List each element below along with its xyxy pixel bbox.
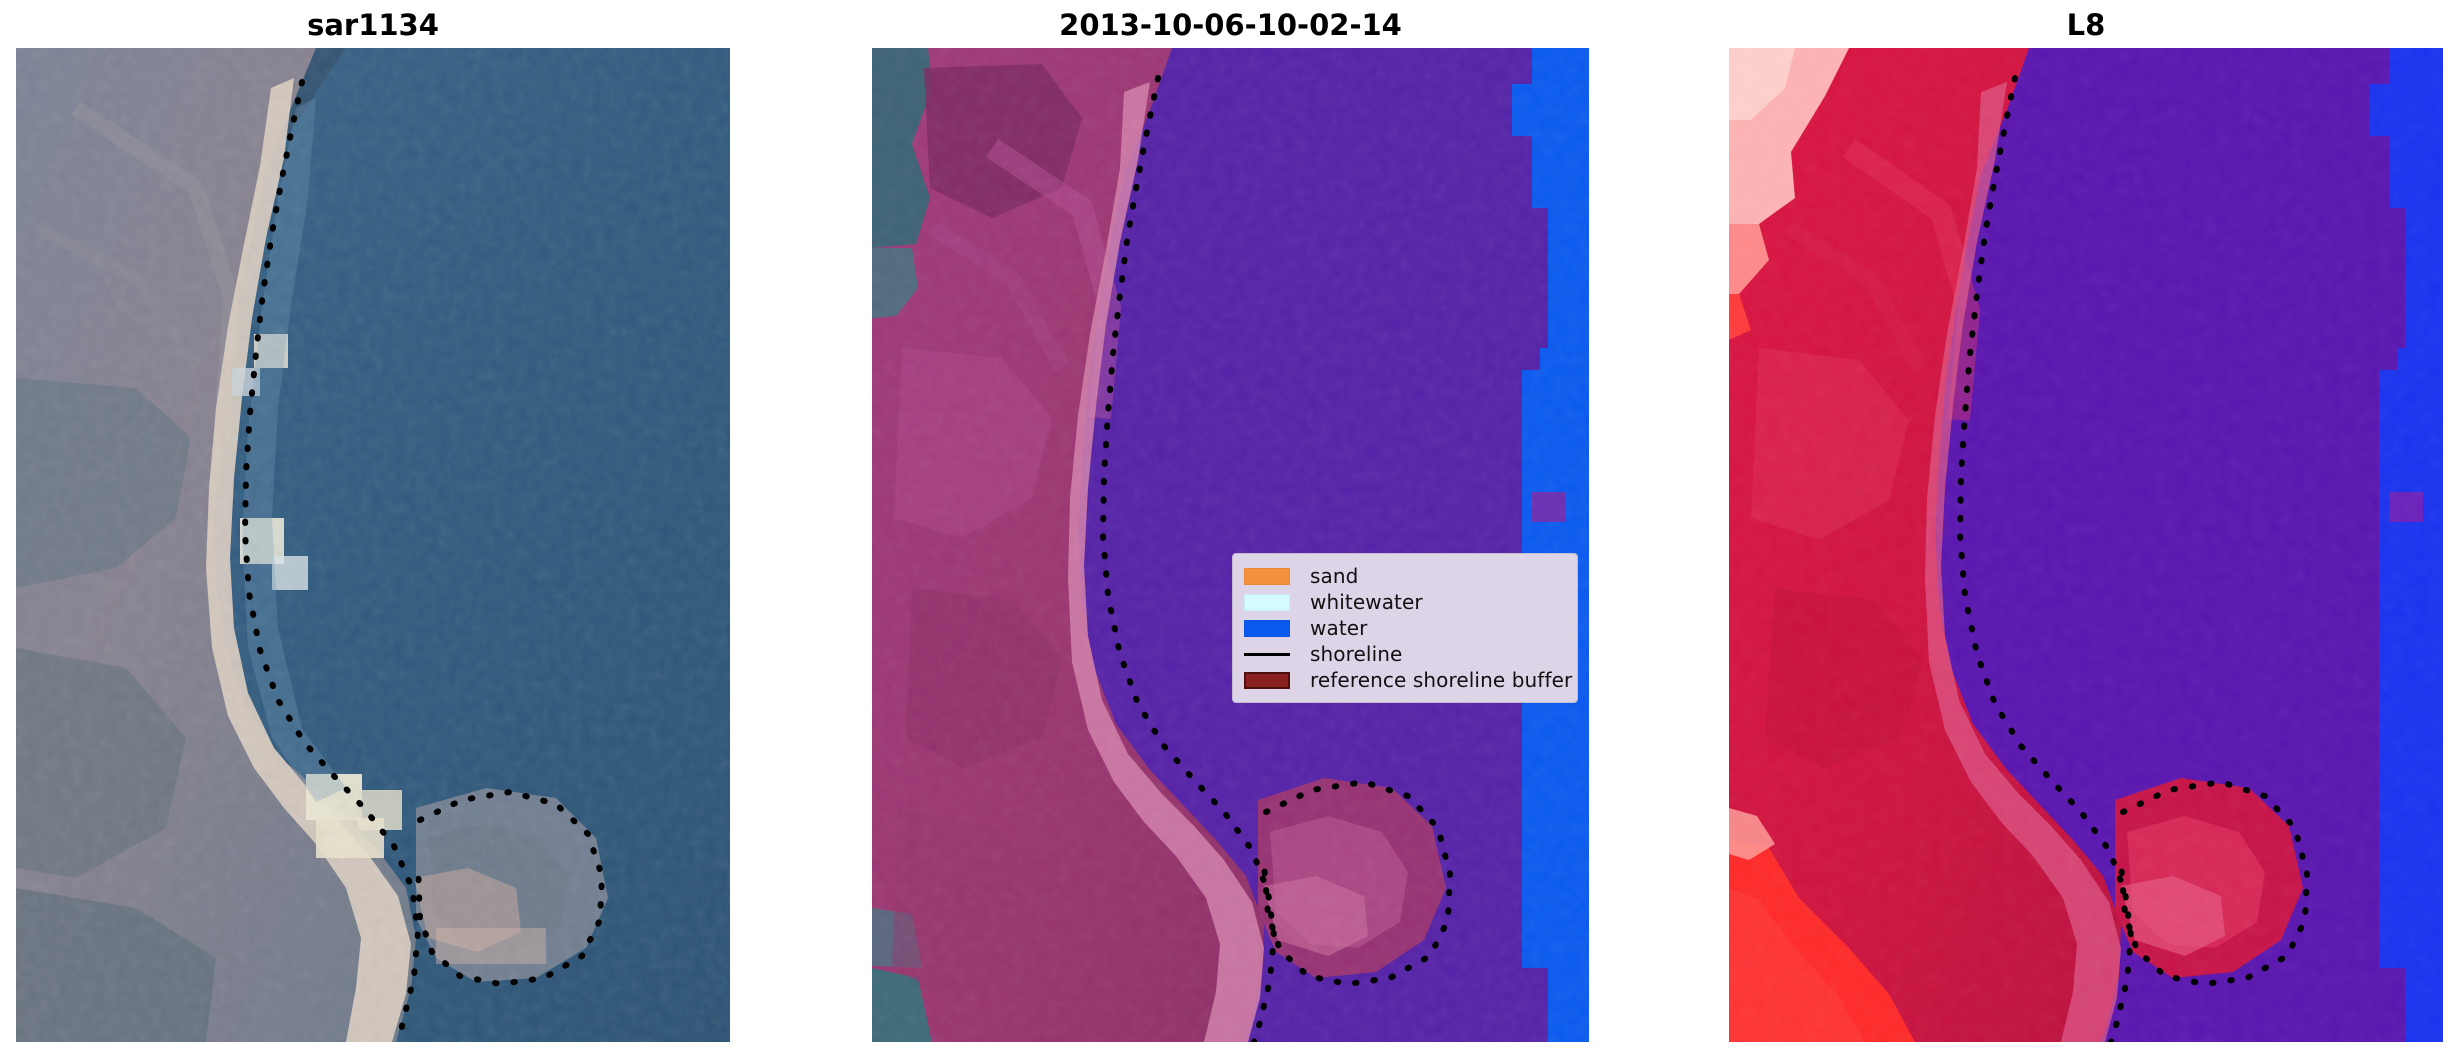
legend-label-shoreline: shoreline xyxy=(1306,642,1402,666)
legend-swatch-water xyxy=(1244,620,1290,637)
figure-canvas: sar1134 2013-10-06-10-02-14 L8 xyxy=(0,0,2460,1059)
legend-swatch-shoreline-wrap xyxy=(1244,641,1306,667)
legend: sand whitewater water shoreline referenc xyxy=(1232,553,1578,703)
legend-swatch-reference-buffer-wrap xyxy=(1244,667,1306,693)
legend-swatch-shoreline xyxy=(1244,653,1290,656)
panel-sar1134 xyxy=(16,48,730,1042)
legend-swatch-reference-shoreline-buffer xyxy=(1244,672,1290,689)
legend-item-whitewater: whitewater xyxy=(1244,589,1565,615)
panel-2013-10-06-10-02-14 xyxy=(872,48,1589,1042)
panel-l8 xyxy=(1729,48,2443,1042)
panel-title-2: 2013-10-06-10-02-14 xyxy=(872,8,1589,42)
legend-label-sand: sand xyxy=(1306,564,1358,588)
legend-item-sand: sand xyxy=(1244,563,1565,589)
legend-label-whitewater: whitewater xyxy=(1306,590,1423,614)
legend-swatch-sand xyxy=(1244,568,1290,585)
legend-item-water: water xyxy=(1244,615,1565,641)
l8-index-raster xyxy=(1729,48,2443,1042)
legend-label-reference-shoreline-buffer: reference shoreline buffer xyxy=(1306,668,1572,692)
legend-label-water: water xyxy=(1306,616,1367,640)
legend-item-reference-shoreline-buffer: reference shoreline buffer xyxy=(1244,667,1565,693)
legend-swatch-sand-wrap xyxy=(1244,563,1306,589)
panel-title-1: sar1134 xyxy=(16,8,730,42)
legend-item-shoreline: shoreline xyxy=(1244,641,1565,667)
satellite-rgb-raster xyxy=(16,48,730,1042)
panel-title-3: L8 xyxy=(1729,8,2443,42)
legend-swatch-whitewater xyxy=(1244,594,1290,611)
classified-overlay-raster xyxy=(872,48,1589,1042)
legend-swatch-water-wrap xyxy=(1244,615,1306,641)
legend-swatch-whitewater-wrap xyxy=(1244,589,1306,615)
